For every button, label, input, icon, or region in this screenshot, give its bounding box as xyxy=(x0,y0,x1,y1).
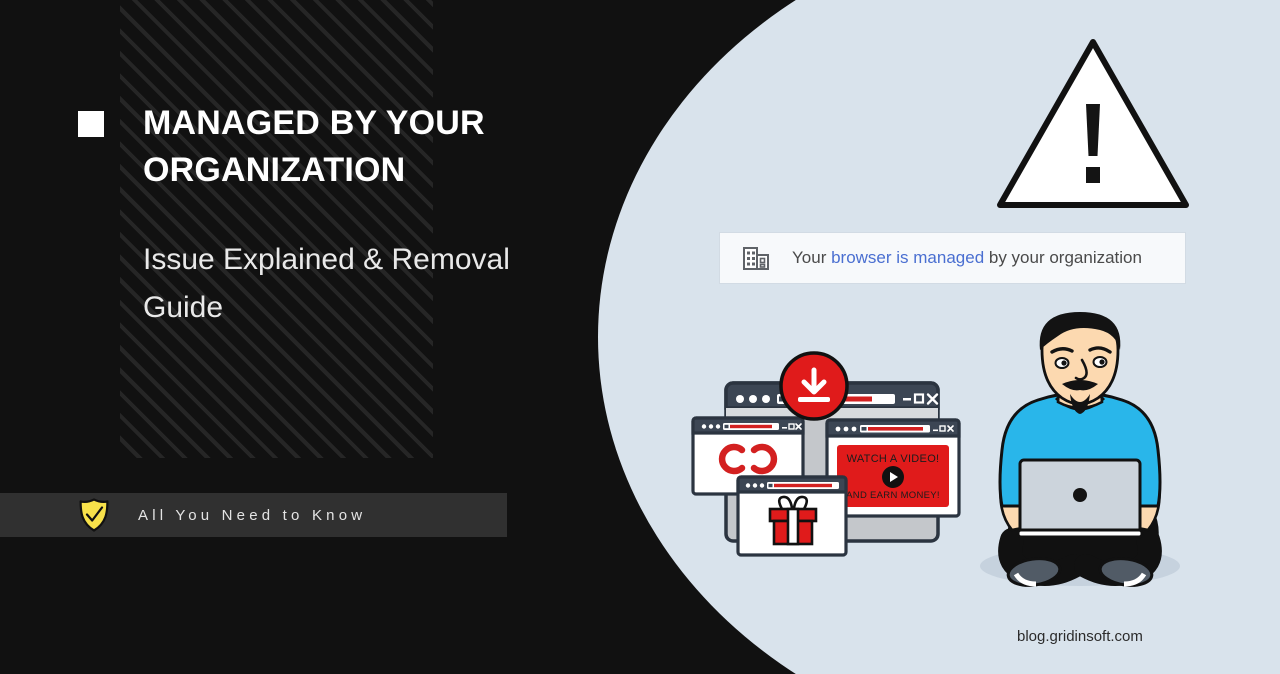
warning-triangle-icon xyxy=(995,36,1191,211)
page-title: MANAGED BY YOUR ORGANIZATION xyxy=(143,100,573,194)
gift-browser-window xyxy=(738,477,846,555)
shield-check-icon xyxy=(78,498,110,532)
diagonal-hatch-pattern xyxy=(120,0,433,458)
square-bullet-icon xyxy=(78,111,104,137)
laptop-icon xyxy=(1018,460,1142,537)
browser-managed-notification[interactable]: Your browser is managed by your organiza… xyxy=(720,233,1185,283)
office-building-icon xyxy=(742,244,770,272)
all-you-need-to-know-banner: All You Need to Know xyxy=(0,493,507,537)
video-subline: AND EARN MONEY! xyxy=(846,490,940,501)
footer-url: blog.gridinsoft.com xyxy=(1017,628,1143,645)
man-with-laptop-illustration xyxy=(960,308,1200,600)
notification-text: Your browser is managed by your organiza… xyxy=(792,248,1142,268)
banner-label: All You Need to Know xyxy=(138,507,366,524)
browser-windows-illustration: WATCH A VIDEO! AND EARN MONEY! xyxy=(690,350,980,600)
hero-banner-image: MANAGED BY YOUR ORGANIZATION Issue Expla… xyxy=(0,0,1280,674)
video-headline: WATCH A VIDEO! xyxy=(847,453,940,465)
notification-suffix: by your organization xyxy=(984,248,1142,267)
notification-link[interactable]: browser is managed xyxy=(831,248,984,267)
notification-prefix: Your xyxy=(792,248,831,267)
download-arrow-icon xyxy=(781,353,847,419)
page-subtitle: Issue Explained & Removal Guide xyxy=(143,236,573,332)
